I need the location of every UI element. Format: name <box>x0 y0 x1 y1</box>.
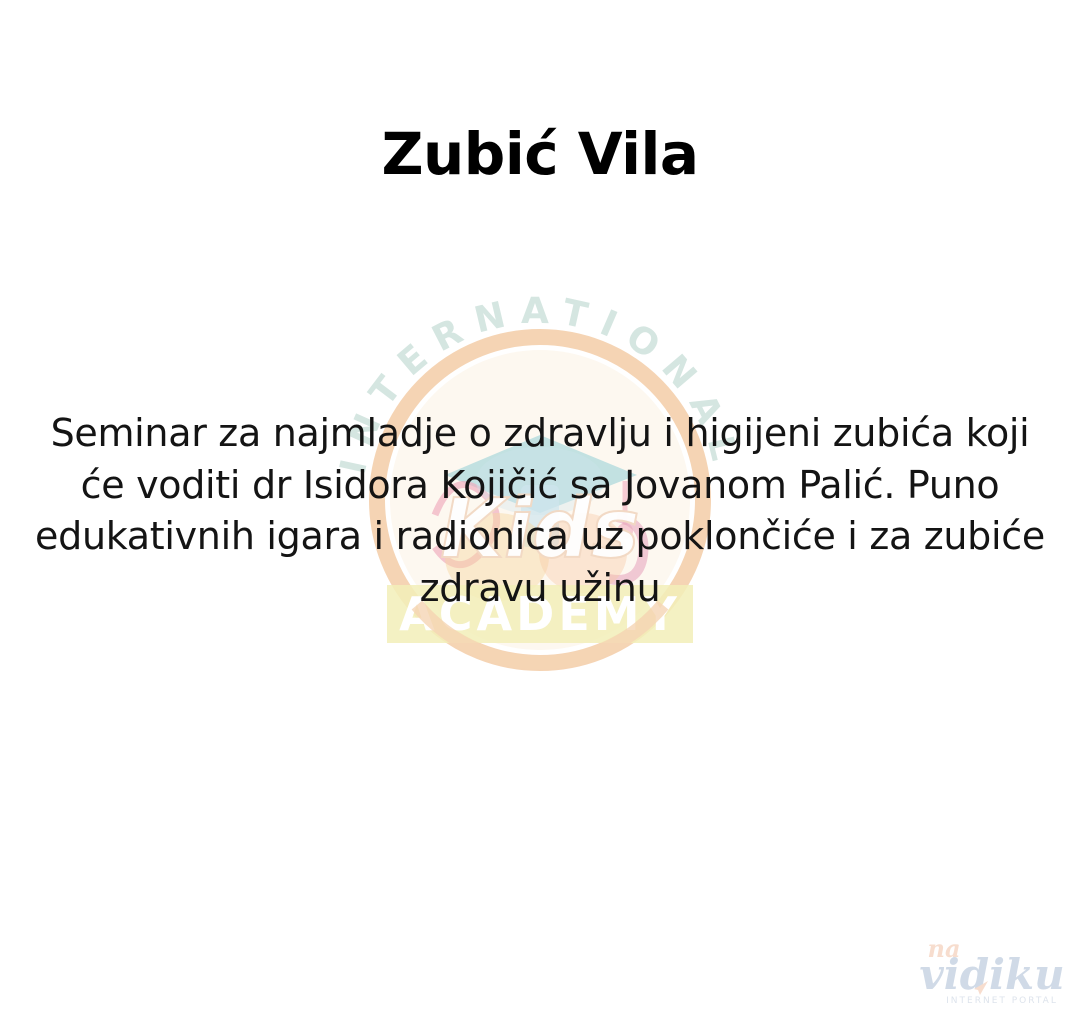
logo-word-na: na <box>928 934 961 963</box>
na-vidiku-logo: na vidiku INTERNET PORTAL <box>914 931 1064 1009</box>
description-text: Seminar za najmladje o zdravlju i higije… <box>26 408 1054 615</box>
logo-word-vidiku: vidiku <box>919 950 1064 999</box>
poster-page: Kids ACADEMY INTERNATIONAL Zubić Vila Se… <box>0 0 1080 1023</box>
description-block: Seminar za najmladje o zdravlju i higije… <box>26 408 1054 615</box>
page-title: Zubić Vila <box>0 123 1080 187</box>
logo-tagline: INTERNET PORTAL <box>946 996 1058 1006</box>
location-pin-icon <box>974 981 988 995</box>
